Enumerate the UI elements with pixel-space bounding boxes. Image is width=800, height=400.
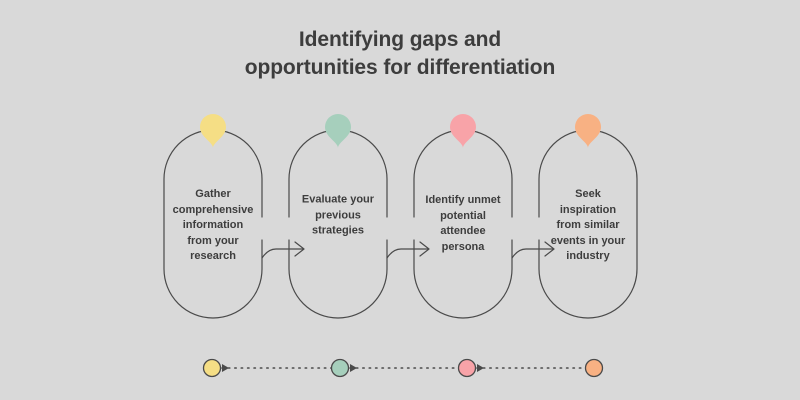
- arrowhead-icon: [222, 364, 229, 372]
- step-card-4-label: Seek inspiration from similar events in …: [536, 187, 640, 265]
- step-pin-4[interactable]: [575, 114, 601, 148]
- arrowhead-icon: [350, 364, 357, 372]
- infographic-canvas: Identifying gaps and opportunities for d…: [0, 0, 800, 400]
- step-card-1-label: Gather comprehensive information from yo…: [161, 187, 265, 265]
- map-pin-icon: [325, 114, 351, 148]
- map-pin-icon: [450, 114, 476, 148]
- connector-arrow-1-to-2: [262, 242, 304, 258]
- timeline-connector-1: [222, 364, 333, 372]
- timeline-marker-1[interactable]: [204, 360, 221, 377]
- timeline-marker-4[interactable]: [586, 360, 603, 377]
- map-pin-icon: [200, 114, 226, 148]
- timeline-strip: [204, 360, 603, 377]
- map-pin-icon: [575, 114, 601, 148]
- step-pin-1[interactable]: [200, 114, 226, 148]
- step-pin-3[interactable]: [450, 114, 476, 148]
- timeline-marker-2[interactable]: [332, 360, 349, 377]
- timeline-marker-3[interactable]: [459, 360, 476, 377]
- step-card-2-label: Evaluate your previous strategies: [286, 193, 390, 240]
- process-flow-diagram: [0, 0, 800, 400]
- timeline-connector-3: [477, 364, 586, 372]
- step-pin-2[interactable]: [325, 114, 351, 148]
- step-card-3-label: Identify unmet potential attendee person…: [411, 193, 515, 255]
- timeline-connector-2: [350, 364, 459, 372]
- arrowhead-icon: [477, 364, 484, 372]
